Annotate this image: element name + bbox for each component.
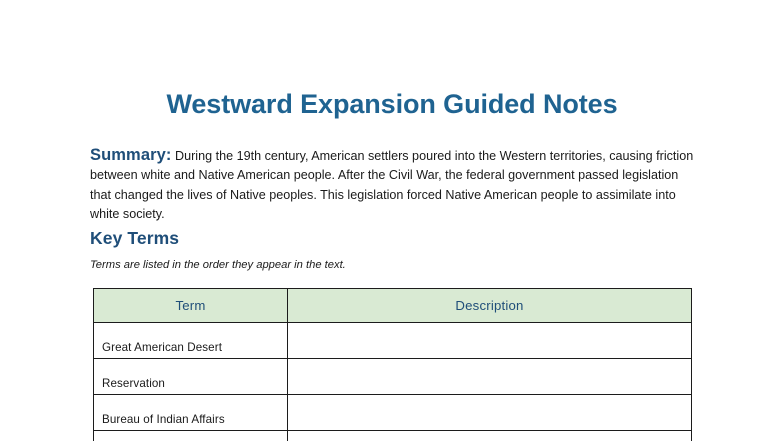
table-body: Great American Desert Reservation Bureau… [94, 323, 692, 441]
page-title: Westward Expansion Guided Notes [0, 88, 784, 120]
key-terms-heading: Key Terms [90, 227, 179, 249]
table-header: Term Description [94, 289, 692, 323]
document-page: Westward Expansion Guided Notes Summary:… [0, 0, 784, 441]
column-header-description: Description [288, 289, 692, 323]
table-row: Reservation [94, 359, 692, 395]
description-cell[interactable] [288, 359, 692, 395]
summary-label: Summary: [90, 146, 172, 164]
table-row: Bureau of Indian Affairs [94, 395, 692, 431]
term-cell[interactable]: Bureau of Indian Affairs [94, 395, 288, 431]
description-cell[interactable] [288, 395, 692, 431]
summary-body-text: During the 19th century, American settle… [90, 149, 693, 222]
description-cell[interactable] [288, 323, 692, 359]
table-header-row: Term Description [94, 289, 692, 323]
key-terms-note: Terms are listed in the order they appea… [90, 257, 346, 273]
description-cell[interactable] [288, 431, 692, 441]
term-cell[interactable]: Reservation [94, 359, 288, 395]
term-cell[interactable] [94, 431, 288, 441]
table-row [94, 431, 692, 441]
key-terms-table: Term Description Great American Desert R… [93, 288, 692, 441]
term-cell[interactable]: Great American Desert [94, 323, 288, 359]
column-header-term: Term [94, 289, 288, 323]
table-row: Great American Desert [94, 323, 692, 359]
summary-paragraph: Summary: During the 19th century, Americ… [90, 146, 698, 225]
